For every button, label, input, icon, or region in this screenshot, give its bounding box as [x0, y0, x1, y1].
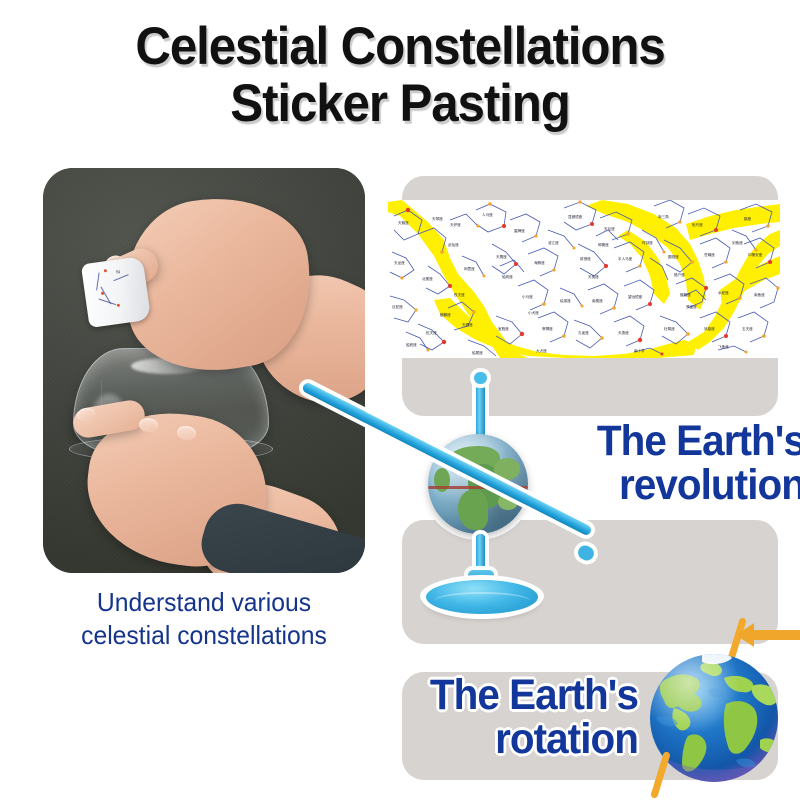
rotation-pointer-arrow	[736, 620, 800, 650]
svg-text:水蛇座: 水蛇座	[718, 290, 729, 295]
svg-text:杜鹃座: 杜鹃座	[664, 326, 675, 331]
svg-text:天琴座: 天琴座	[432, 216, 443, 221]
stylized-earth-svg	[648, 652, 780, 784]
svg-text:武仙座: 武仙座	[448, 242, 459, 247]
svg-text:天鹅座: 天鹅座	[398, 220, 409, 225]
svg-text:天炉座: 天炉座	[450, 222, 461, 227]
svg-text:天蝎座: 天蝎座	[462, 322, 473, 327]
page-title-line-1: Celestial Constellations	[28, 18, 772, 75]
svg-text:南鱼座: 南鱼座	[754, 292, 765, 297]
globe-sphere	[428, 434, 528, 534]
heading-revolution-line-1: The Earth's	[549, 420, 800, 464]
svg-text:船帆座: 船帆座	[502, 274, 513, 279]
svg-text:南三角: 南三角	[658, 214, 669, 219]
poster-canvas: Celestial Constellations Sticker Pasting	[0, 0, 800, 800]
svg-text:摩羯座: 摩羯座	[542, 326, 553, 331]
svg-text:船底座: 船底座	[406, 342, 417, 347]
svg-text:人马座: 人马座	[482, 212, 493, 217]
globe-pole-cap	[474, 372, 487, 384]
svg-text:小犬座: 小犬座	[528, 310, 539, 315]
product-photo-pasting-sticker: N	[43, 168, 365, 573]
arrow-left-icon	[736, 620, 800, 650]
svg-text:天兔座: 天兔座	[588, 274, 599, 279]
heading-rotation-line-2: rotation	[369, 718, 638, 762]
svg-text:牧夫座: 牧夫座	[454, 292, 465, 297]
svg-text:罗盘座: 罗盘座	[686, 304, 697, 309]
svg-text:剑鱼座: 剑鱼座	[732, 240, 743, 245]
heading-earth-rotation: The Earth's rotation	[369, 674, 638, 762]
svg-text:望远镜座: 望远镜座	[628, 294, 643, 299]
svg-text:南十字: 南十字	[634, 348, 645, 353]
stylized-earth-globe	[648, 652, 780, 784]
svg-text:半人马座: 半人马座	[618, 256, 633, 261]
svg-text:海豚座: 海豚座	[534, 260, 545, 265]
svg-text:绘架座: 绘架座	[560, 298, 571, 303]
svg-text:玉夫座: 玉夫座	[742, 326, 753, 331]
page-title-line-2: Sticker Pasting	[28, 75, 772, 132]
photo-caption-line-1: Understand various	[32, 586, 376, 619]
svg-text:宝瓶座: 宝瓶座	[498, 326, 509, 331]
svg-text:鹤座: 鹤座	[744, 216, 752, 221]
svg-text:麒麟座: 麒麟座	[440, 312, 451, 317]
svg-text:网罟座: 网罟座	[464, 266, 475, 271]
svg-text:船尾座: 船尾座	[472, 350, 483, 355]
svg-text:豺狼座: 豺狼座	[580, 256, 591, 261]
heading-earth-revolution: The Earth's revolution	[549, 420, 800, 508]
svg-text:猎户座: 猎户座	[674, 272, 685, 277]
page-title: Celestial Constellations Sticker Pasting	[28, 18, 772, 132]
svg-text:唧筒座: 唧筒座	[598, 242, 609, 247]
svg-text:孔雀座: 孔雀座	[578, 330, 589, 335]
star-chart-svg: 天鹅座天琴座 武仙座天龙座 北冕座牧夫座 巨蛇座蛇夫座 天蝎座人马座 盾牌座天鹰…	[388, 200, 780, 358]
svg-text:印第安座: 印第安座	[748, 252, 763, 257]
svg-text:南冕座: 南冕座	[592, 298, 603, 303]
svg-text:凤凰座: 凤凰座	[704, 326, 715, 331]
svg-text:大犬座: 大犬座	[536, 348, 547, 353]
svg-text:蝘蜓座: 蝘蜓座	[680, 292, 691, 297]
svg-text:圆规座: 圆规座	[668, 254, 679, 259]
photo-caption: Understand various celestial constellati…	[32, 586, 376, 652]
globe-base-ridge	[434, 592, 530, 610]
sticker-text: N	[116, 269, 120, 275]
globe-landmass	[458, 490, 488, 530]
heading-revolution-line-2: revolution	[549, 464, 800, 508]
svg-text:矩尺座: 矩尺座	[692, 222, 703, 227]
svg-text:天龙座: 天龙座	[394, 260, 405, 265]
constellation-sticker-strip: N	[81, 256, 151, 328]
svg-text:苍蝇座: 苍蝇座	[704, 252, 715, 257]
svg-text:小马座: 小马座	[522, 294, 533, 299]
globe-landmass	[494, 458, 520, 480]
svg-text:北冕座: 北冕座	[422, 276, 433, 281]
svg-text:巨蛇座: 巨蛇座	[392, 304, 403, 309]
svg-text:时钟座: 时钟座	[642, 240, 653, 245]
svg-text:飞鱼座: 飞鱼座	[718, 344, 729, 349]
svg-text:天鹰座: 天鹰座	[496, 254, 507, 259]
photo-caption-line-2: celestial constellations	[32, 619, 376, 652]
svg-text:天坛座: 天坛座	[604, 226, 615, 231]
svg-text:天燕座: 天燕座	[618, 330, 629, 335]
svg-text:盾牌座: 盾牌座	[514, 228, 525, 233]
svg-text:波江座: 波江座	[548, 240, 559, 245]
heading-rotation-line-1: The Earth's	[369, 674, 638, 718]
svg-text:显微镜座: 显微镜座	[568, 214, 583, 219]
star-chart-image: 天鹅座天琴座 武仙座天龙座 北冕座牧夫座 巨蛇座蛇夫座 天蝎座人马座 盾牌座天鹰…	[388, 200, 780, 358]
svg-text:蛇夫座: 蛇夫座	[426, 330, 437, 335]
